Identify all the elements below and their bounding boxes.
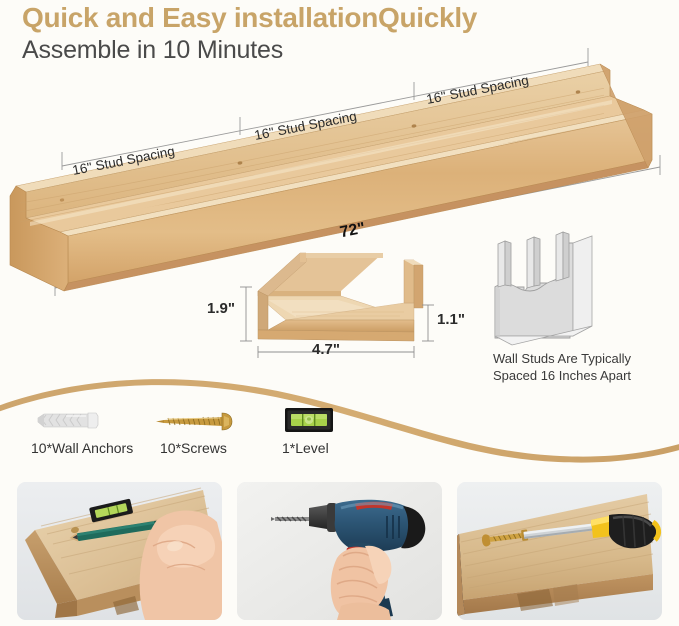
page-title: Quick and Easy installationQuickly xyxy=(22,2,477,34)
shelf-screw-holes xyxy=(60,90,581,202)
wall-studs-illustration xyxy=(495,232,592,345)
level-icon xyxy=(285,408,333,432)
photo-marking-with-level-and-pencil xyxy=(17,482,222,620)
stud-spacing-label-1: 16" Stud Spacing xyxy=(71,143,176,178)
stud-spacing-label-3: 16" Stud Spacing xyxy=(425,72,530,107)
hardware-label-wall-anchors: 10*Wall Anchors xyxy=(31,440,133,456)
cross-section-height-label: 1.9" xyxy=(207,300,235,317)
stud-spacing-label-2: 16" Stud Spacing xyxy=(253,108,358,143)
infographic-stage: Quick and Easy installationQuickly Assem… xyxy=(0,0,679,626)
photo-driving-screw-with-screwdriver xyxy=(457,482,662,620)
shelf-length-label: 72" xyxy=(339,220,367,243)
shelf-illustration xyxy=(10,64,652,291)
hardware-label-screws: 10*Screws xyxy=(160,440,227,456)
page-subtitle: Assemble in 10 Minutes xyxy=(22,36,283,65)
wall-anchor-icon xyxy=(38,413,98,428)
cross-section-lip-height-label: 1.1" xyxy=(437,311,465,328)
cross-section-illustration xyxy=(258,253,423,341)
wall-studs-caption-line2: Spaced 16 Inches Apart xyxy=(493,367,631,385)
cross-section-width-label: 4.7" xyxy=(312,341,340,358)
screw-icon xyxy=(156,413,232,430)
hardware-label-level: 1*Level xyxy=(282,440,329,456)
photo-drilling-wall-with-drill xyxy=(237,482,442,620)
wall-studs-caption-line1: Wall Studs Are Typically xyxy=(493,350,631,368)
